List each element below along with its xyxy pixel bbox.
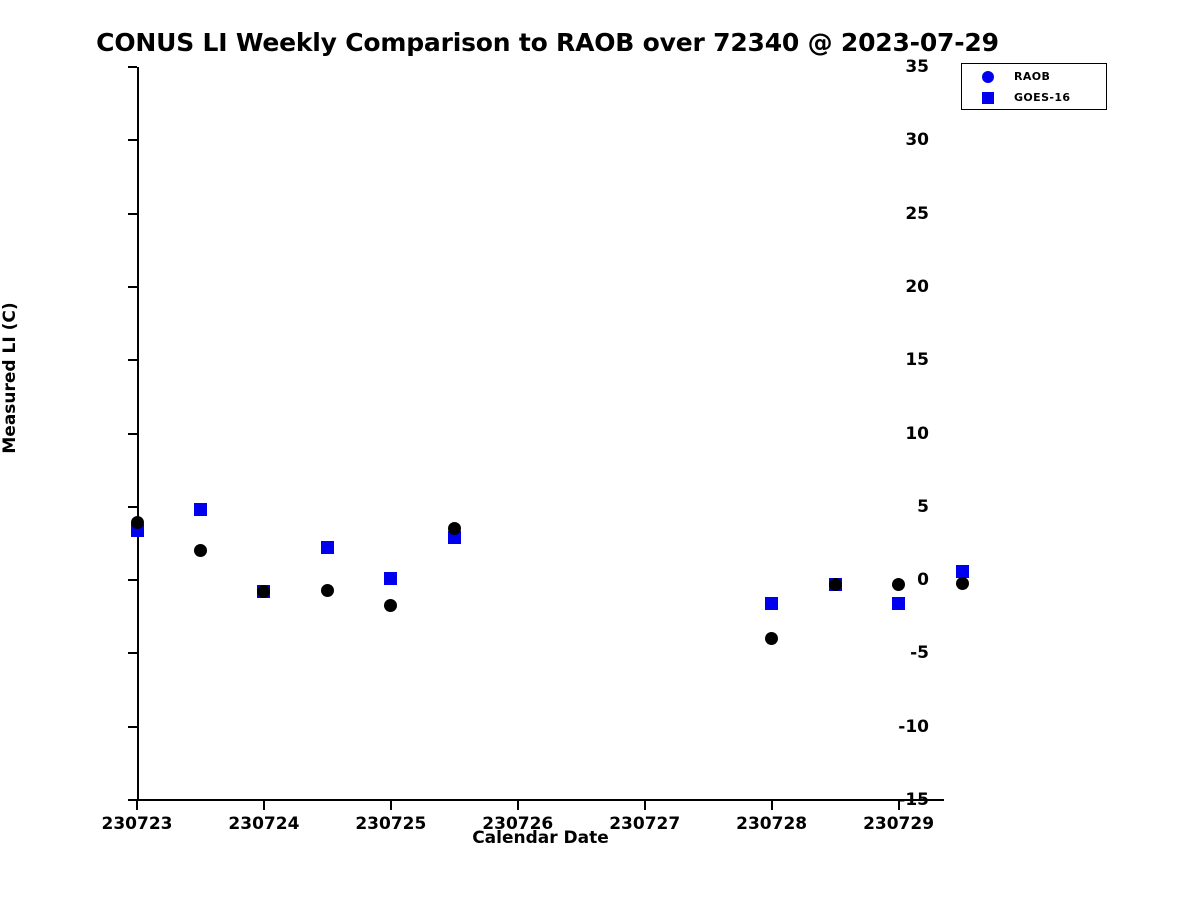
legend-marker-container	[962, 71, 1014, 83]
legend-entry-raob[interactable]: RAOB	[962, 66, 1106, 87]
data-point-goes-16	[384, 572, 397, 585]
y-axis-label: Measured LI (C)	[0, 118, 20, 638]
y-tick-mark	[128, 433, 137, 435]
x-tick-mark	[136, 800, 138, 810]
data-point-raob	[384, 599, 397, 612]
y-tick-label: 10	[905, 424, 929, 444]
y-tick-label: 30	[905, 130, 929, 150]
x-tick-mark	[898, 800, 900, 810]
data-point-raob	[131, 516, 144, 529]
y-tick-label: 35	[905, 57, 929, 77]
y-tick-label: 0	[917, 570, 929, 590]
data-point-goes-16	[892, 597, 905, 610]
x-tick-mark	[771, 800, 773, 810]
chart-title: CONUS LI Weekly Comparison to RAOB over …	[0, 28, 1095, 57]
y-tick-mark	[128, 506, 137, 508]
data-point-raob	[321, 584, 334, 597]
data-point-raob	[892, 578, 905, 591]
y-tick-mark	[128, 66, 137, 68]
circle-marker-icon	[982, 71, 994, 83]
x-tick-mark	[517, 800, 519, 810]
legend-label: GOES-16	[1014, 91, 1071, 104]
data-point-goes-16	[765, 597, 778, 610]
x-axis-label: Calendar Date	[137, 828, 944, 848]
y-tick-mark	[128, 652, 137, 654]
data-point-raob	[765, 632, 778, 645]
chart-figure: CONUS LI Weekly Comparison to RAOB over …	[0, 0, 1200, 900]
y-tick-label: 25	[905, 204, 929, 224]
square-marker-icon	[982, 92, 994, 104]
y-tick-label: -10	[898, 717, 929, 737]
data-point-raob	[194, 544, 207, 557]
chart-legend: RAOBGOES-16	[961, 63, 1107, 110]
data-point-raob	[956, 577, 969, 590]
legend-label: RAOB	[1014, 70, 1050, 83]
x-tick-mark	[644, 800, 646, 810]
x-tick-mark	[263, 800, 265, 810]
y-tick-mark	[128, 286, 137, 288]
y-tick-label: 20	[905, 277, 929, 297]
y-tick-label: -5	[910, 643, 929, 663]
legend-entry-goes-16[interactable]: GOES-16	[962, 87, 1106, 108]
legend-marker-container	[962, 92, 1014, 104]
y-tick-label: -15	[898, 790, 929, 810]
plot-area: -15-10-505101520253035 23072323072423072…	[137, 67, 943, 800]
y-tick-mark	[128, 213, 137, 215]
y-tick-label: 15	[905, 350, 929, 370]
y-tick-mark	[128, 139, 137, 141]
y-tick-mark	[128, 726, 137, 728]
data-point-goes-16	[956, 565, 969, 578]
y-tick-mark	[128, 579, 137, 581]
y-tick-label: 5	[917, 497, 929, 517]
data-point-goes-16	[194, 503, 207, 516]
data-point-goes-16	[321, 541, 334, 554]
data-point-raob	[829, 578, 842, 591]
y-tick-mark	[128, 359, 137, 361]
x-tick-mark	[390, 800, 392, 810]
